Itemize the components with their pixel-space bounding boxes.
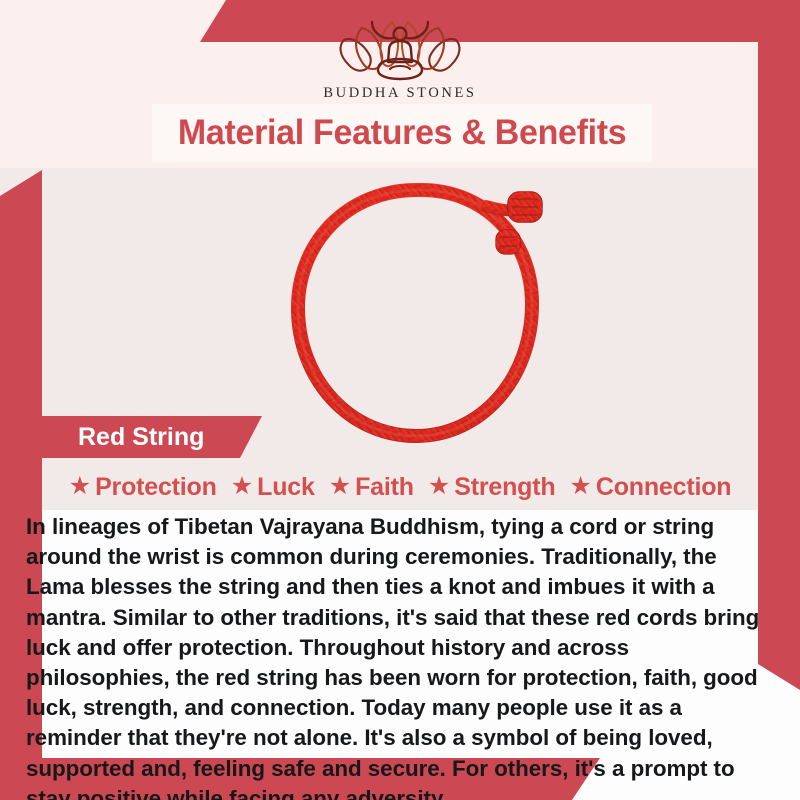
infographic-page: BUDDHA STONES Material Features & Benefi… bbox=[0, 0, 800, 800]
material-ribbon: Red String bbox=[22, 416, 262, 458]
star-icon: ★ bbox=[569, 474, 591, 499]
benefit-item-faith: ★ Faith bbox=[324, 473, 419, 502]
description-paragraph: In lineages of Tibetan Vajrayana Buddhis… bbox=[26, 512, 778, 800]
material-name: Red String bbox=[22, 423, 204, 452]
star-icon: ★ bbox=[428, 474, 450, 499]
description-block: In lineages of Tibetan Vajrayana Buddhis… bbox=[26, 512, 778, 800]
benefit-item-connection: ★ Connection bbox=[564, 473, 736, 502]
product-image-red-braided-string-bracelet bbox=[250, 168, 590, 468]
page-title: Material Features & Benefits bbox=[178, 113, 626, 153]
benefit-item-protection: ★ Protection bbox=[64, 473, 222, 502]
benefit-label: Protection bbox=[95, 473, 217, 502]
benefit-label: Faith bbox=[355, 473, 414, 502]
star-icon: ★ bbox=[69, 474, 91, 499]
benefit-label: Strength bbox=[454, 473, 555, 502]
benefit-label: Luck bbox=[257, 473, 315, 502]
star-icon: ★ bbox=[329, 474, 351, 499]
star-icon: ★ bbox=[231, 474, 253, 499]
title-banner: Material Features & Benefits bbox=[152, 104, 652, 162]
decorative-bar-top bbox=[200, 0, 800, 42]
benefit-label: Connection bbox=[596, 473, 732, 502]
benefit-item-strength: ★ Strength bbox=[423, 473, 561, 502]
benefits-list: ★ Protection ★ Luck ★ Faith ★ Strength ★… bbox=[0, 466, 800, 508]
benefit-item-luck: ★ Luck bbox=[226, 473, 320, 502]
